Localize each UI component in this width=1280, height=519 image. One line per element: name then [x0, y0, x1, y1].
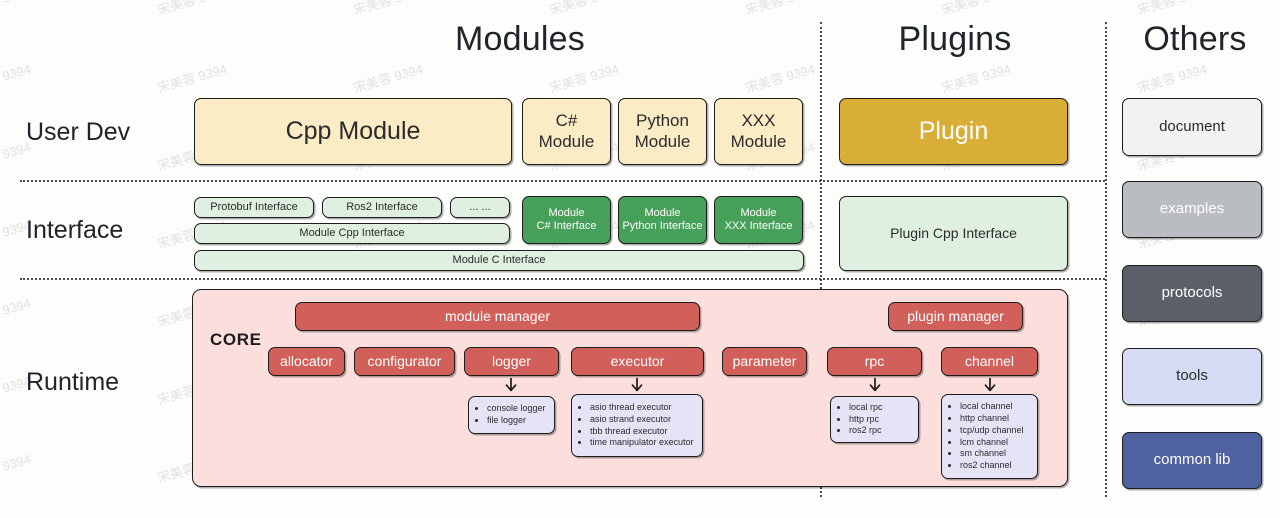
watermark-text: 宋美蓉 9394: [1135, 0, 1209, 18]
detail-list-rpc: local rpchttp rpcros2 rpc: [830, 396, 919, 443]
watermark-text: 宋美蓉 9394: [1135, 59, 1209, 97]
core-plugin-manager[interactable]: plugin manager: [888, 302, 1023, 331]
arrow-down-icon-logger: [503, 378, 519, 394]
detail-list-channel: local channelhttp channeltcp/udp channel…: [941, 394, 1038, 479]
detail-list-logger-items: console loggerfile logger: [469, 403, 546, 427]
core-component-logger[interactable]: logger: [464, 347, 559, 376]
core-component-executor[interactable]: executor: [571, 347, 704, 376]
interface-box-module-python-line1: Module: [622, 207, 702, 220]
detail-list-rpc-items: local rpchttp rpcros2 rpc: [831, 402, 883, 438]
divider-plugins-others: [1105, 22, 1107, 497]
interface-box-module-python-line2: Python Interface: [622, 220, 702, 233]
watermark-text: 宋美蓉 9394: [155, 59, 229, 97]
core-module-manager[interactable]: module manager: [295, 302, 700, 331]
detail-list-item: sm channel: [960, 448, 1024, 459]
others-box-tools[interactable]: tools: [1122, 348, 1262, 405]
watermark-text: 宋美蓉 9394: [939, 0, 1013, 18]
module-box-python-line1: Python: [635, 111, 691, 132]
interface-box-module-python[interactable]: Module Python Interface: [618, 196, 707, 244]
watermark-text: 宋美蓉 9394: [0, 59, 33, 97]
others-box-document[interactable]: document: [1122, 98, 1262, 156]
core-label: CORE: [210, 330, 262, 350]
module-box-python-line2: Module: [635, 132, 691, 153]
detail-list-item: time manipulator executor: [590, 437, 694, 448]
detail-list-executor: asio thread executorasio strand executor…: [571, 394, 703, 457]
column-header-others: Others: [1110, 20, 1280, 59]
detail-list-item: ros2 channel: [960, 460, 1024, 471]
module-box-csharp[interactable]: C# Module: [522, 98, 611, 165]
core-component-parameter[interactable]: parameter: [722, 347, 807, 376]
core-component-allocator[interactable]: allocator: [268, 347, 345, 376]
core-component-rpc[interactable]: rpc: [827, 347, 922, 376]
detail-list-item: ros2 rpc: [849, 425, 883, 436]
row-label-runtime: Runtime: [26, 368, 119, 397]
core-component-channel[interactable]: channel: [941, 347, 1038, 376]
detail-list-item: local rpc: [849, 402, 883, 413]
watermark-text: 宋美蓉 9394: [547, 59, 621, 97]
plugin-box[interactable]: Plugin: [839, 98, 1068, 165]
watermark-text: 宋美蓉 9394: [743, 0, 817, 18]
detail-list-item: http channel: [960, 413, 1024, 424]
detail-list-item: local channel: [960, 401, 1024, 412]
module-box-xxx-line1: XXX: [731, 111, 787, 132]
arrow-down-icon-rpc: [867, 378, 883, 394]
interface-box-module-cpp[interactable]: Module Cpp Interface: [194, 223, 510, 244]
divider-userdev-interface: [20, 180, 1105, 182]
detail-list-executor-items: asio thread executorasio strand executor…: [572, 402, 694, 450]
divider-interface-runtime: [20, 278, 1105, 280]
watermark-text: 宋美蓉 9394: [0, 449, 33, 487]
interface-box-protobuf[interactable]: Protobuf Interface: [194, 197, 314, 218]
column-header-modules: Modules: [360, 20, 680, 59]
interface-box-module-csharp[interactable]: Module C# Interface: [522, 196, 611, 244]
others-box-protocols[interactable]: protocols: [1122, 265, 1262, 322]
detail-list-channel-items: local channelhttp channeltcp/udp channel…: [942, 401, 1024, 473]
detail-list-item: asio thread executor: [590, 402, 694, 413]
watermark-text: 宋美蓉 9394: [351, 0, 425, 18]
interface-box-module-csharp-line2: C# Interface: [537, 220, 597, 233]
architecture-diagram: 宋美蓉 9394宋美蓉 9394宋美蓉 9394宋美蓉 9394宋美蓉 9394…: [0, 0, 1280, 519]
module-box-python[interactable]: Python Module: [618, 98, 707, 165]
interface-box-module-csharp-line1: Module: [537, 207, 597, 220]
watermark-text: 宋美蓉 9394: [0, 0, 33, 18]
watermark-text: 宋美蓉 9394: [547, 0, 621, 18]
detail-list-item: tbb thread executor: [590, 426, 694, 437]
watermark-text: 宋美蓉 9394: [351, 59, 425, 97]
interface-box-module-xxx-line1: Module: [725, 207, 793, 220]
column-header-plugins: Plugins: [830, 20, 1080, 59]
interface-box-plugin-cpp[interactable]: Plugin Cpp Interface: [839, 196, 1068, 271]
detail-list-item: asio strand executor: [590, 414, 694, 425]
detail-list-item: file logger: [487, 415, 546, 426]
detail-list-logger: console loggerfile logger: [468, 396, 555, 434]
module-box-xxx-line2: Module: [731, 132, 787, 153]
interface-box-ros2[interactable]: Ros2 Interface: [322, 197, 442, 218]
watermark-text: 宋美蓉 9394: [743, 59, 817, 97]
row-label-user-dev: User Dev: [26, 118, 130, 147]
arrow-down-icon-executor: [629, 378, 645, 394]
interface-box-ellipsis[interactable]: ... ...: [450, 197, 510, 218]
module-box-csharp-line2: Module: [539, 132, 595, 153]
module-box-xxx[interactable]: XXX Module: [714, 98, 803, 165]
core-component-configurator[interactable]: configurator: [354, 347, 455, 376]
interface-box-module-xxx-line2: XXX Interface: [725, 220, 793, 233]
interface-box-module-xxx[interactable]: Module XXX Interface: [714, 196, 803, 244]
watermark-text: 宋美蓉 9394: [155, 0, 229, 18]
arrow-down-icon-channel: [982, 378, 998, 394]
watermark-text: 宋美蓉 9394: [939, 59, 1013, 97]
detail-list-item: http rpc: [849, 414, 883, 425]
interface-box-module-c[interactable]: Module C Interface: [194, 250, 804, 271]
watermark-text: 宋美蓉 9394: [0, 293, 33, 331]
detail-list-item: tcp/udp channel: [960, 425, 1024, 436]
module-box-csharp-line1: C#: [539, 111, 595, 132]
module-box-cpp[interactable]: Cpp Module: [194, 98, 512, 165]
detail-list-item: lcm channel: [960, 437, 1024, 448]
others-box-common-lib[interactable]: common lib: [1122, 432, 1262, 489]
others-box-examples[interactable]: examples: [1122, 181, 1262, 238]
row-label-interface: Interface: [26, 216, 123, 245]
detail-list-item: console logger: [487, 403, 546, 414]
